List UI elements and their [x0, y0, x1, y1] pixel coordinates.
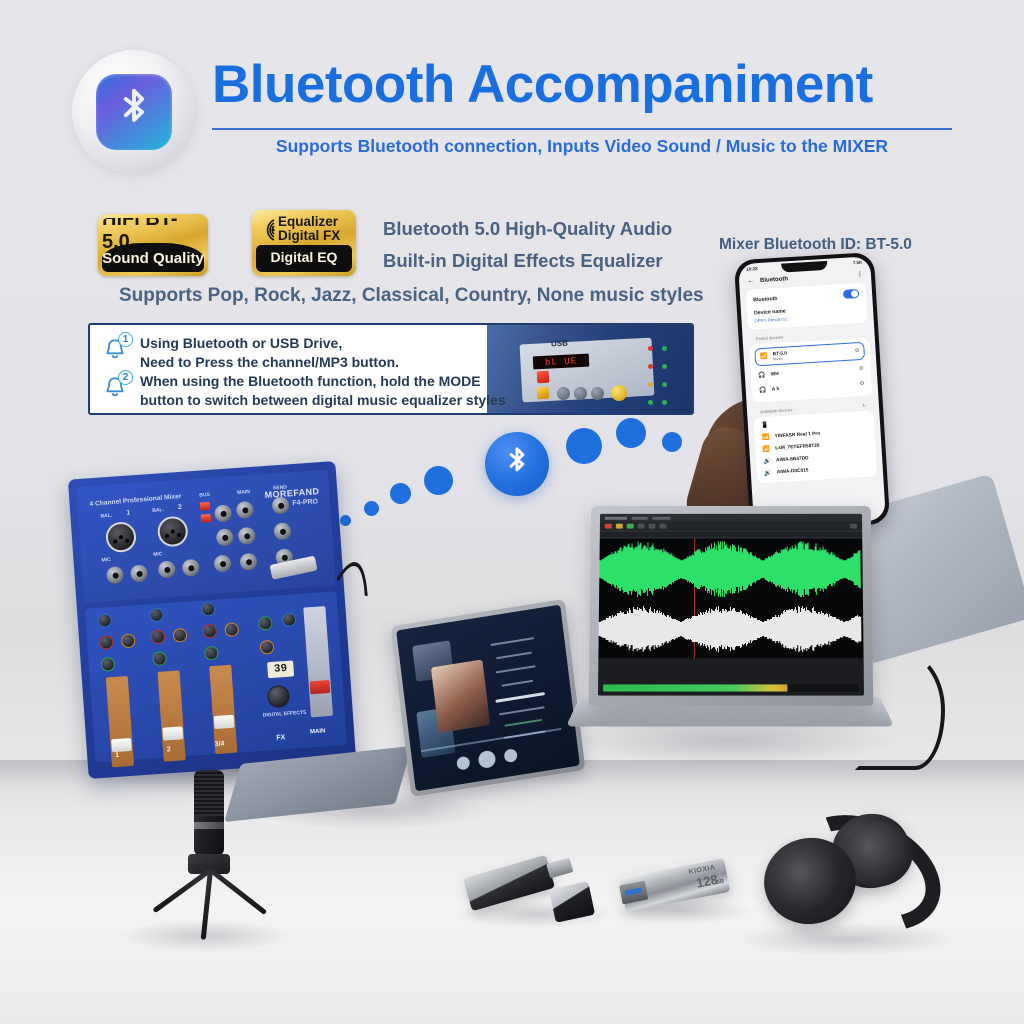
level-meter [603, 684, 859, 691]
signal-dot-3 [390, 483, 411, 504]
fx-knob-1[interactable] [258, 616, 273, 631]
speaker-icon: 🔊 [763, 458, 771, 465]
tripod-leg-3 [152, 868, 212, 913]
laptop-cable [855, 650, 945, 770]
hi-knob-1[interactable] [99, 635, 114, 650]
track-line-6[interactable] [499, 706, 545, 716]
label-bal-1: BAL. [100, 513, 112, 520]
send-jack[interactable] [272, 496, 290, 514]
mid-knob-1[interactable] [121, 633, 136, 648]
instruction-2-line2: button to switch between digital music e… [140, 391, 506, 410]
label-bus: BUS [199, 492, 210, 499]
signal-dot-4 [424, 466, 453, 495]
hi-knob-2[interactable] [151, 629, 166, 644]
daw-menubar[interactable] [600, 514, 862, 522]
channel-label-1: 1 [115, 752, 119, 759]
badge-equalizer: Equalizer Digital FX Digital EQ [252, 210, 356, 276]
gear-icon[interactable]: ⚙ [854, 348, 859, 354]
fader-track-1[interactable] [106, 676, 134, 767]
available-device-name: AIWA-D0C015 [777, 468, 809, 475]
inset-led-array [648, 341, 678, 413]
inset-next-button [591, 387, 605, 401]
inset-red-button [537, 371, 550, 384]
mixer-panel-inset-photo: USB bL UE [487, 325, 692, 413]
speaker-icon: 🔊 [764, 470, 772, 477]
instruction-text-2: When using the Bluetooth function, hold … [140, 370, 506, 409]
gear-icon[interactable]: ⚙ [859, 366, 864, 372]
paired-device-name: A 5 [772, 387, 780, 392]
track-line-4[interactable] [501, 680, 533, 687]
available-devices-list: 📱 📶 YINFASR Real 1 Pro 📶 LxM_7ETEFR58T26… [753, 410, 877, 483]
label-mic-2: MIC [153, 551, 163, 558]
instruction-box: USB bL UE 1 Us [88, 323, 694, 415]
rca-jack-left[interactable] [214, 504, 232, 522]
fader-cap-2[interactable] [162, 726, 183, 740]
badge-eq-line1: Equalizer [278, 215, 338, 229]
tablet-screen [396, 605, 580, 792]
badge-eq-bottom: Digital EQ [256, 245, 352, 272]
mid-knob-34[interactable] [224, 622, 239, 637]
bluetooth-settings-card: Bluetooth Device name OPPO Reno5 m1 [746, 283, 868, 330]
fader-track-2[interactable] [157, 670, 185, 761]
label-bal-2: BAL. [152, 507, 164, 514]
fx-program-knob[interactable] [267, 685, 290, 708]
inset-mp3-button [537, 387, 550, 400]
phone-caption: Mixer Bluetooth ID: BT-5.0 [719, 236, 912, 254]
feature-line-1: Bluetooth 5.0 High-Quality Audio [383, 218, 672, 240]
signal-dot-5 [566, 428, 602, 464]
play-button[interactable] [627, 524, 634, 529]
tablet-frame [391, 599, 586, 797]
bluetooth-icon: 📶 [762, 446, 770, 453]
paired-device-name: WH [771, 371, 779, 376]
fx-knob-3[interactable] [260, 640, 275, 655]
gain-knob-2[interactable] [149, 607, 164, 622]
waveform-track-1[interactable] [599, 538, 863, 600]
page-title: Bluetooth Accompaniment [212, 54, 873, 115]
gain-knob-34[interactable] [201, 602, 216, 617]
phone-screen: 10:28 7.5K ← Bluetooth ⋮ Bluetooth Devic… [738, 256, 886, 528]
paired-section-label: Paired devices [755, 334, 783, 341]
signal-dot-1 [340, 515, 351, 526]
xlr-input-1[interactable] [105, 521, 137, 553]
tool-chip-3[interactable] [659, 524, 666, 529]
status-indicators: 7.5K [853, 260, 863, 266]
timeline-ruler[interactable] [600, 532, 862, 539]
main-out-r[interactable] [238, 527, 256, 545]
tripod-leg-1 [209, 868, 267, 915]
mic-grille [194, 770, 224, 816]
laptop-device [580, 505, 880, 735]
refresh-icon[interactable]: ↻ [862, 402, 866, 407]
bluetooth-label: Bluetooth [753, 295, 778, 302]
bluetooth-glyph [114, 86, 154, 138]
instruction-number-2: 2 [118, 370, 133, 385]
instruction-text-1: Using Bluetooth or USB Drive, Need to Pr… [140, 332, 399, 371]
paired-device-status: Music [773, 356, 788, 361]
waveform-track-2[interactable] [598, 600, 863, 658]
badge-hifi-bottom: Sound Quality [102, 243, 204, 272]
paired-devices-list: 📶 BT-5.0 Music ⚙ 🎧 WH ⚙ 🎧 A 5 ⚙ [749, 337, 872, 402]
jack-3-4-r[interactable] [239, 553, 257, 571]
headphone-icon: 🎧 [759, 386, 767, 393]
tool-chip-4[interactable] [850, 524, 857, 529]
tripod-leg-2 [201, 870, 213, 940]
fx-jack[interactable] [273, 522, 291, 540]
product-infographic: Bluetooth Accompaniment Supports Bluetoo… [0, 0, 1024, 1024]
main-out-l[interactable] [236, 501, 254, 519]
available-device-name: AIWA-8B47DD [776, 456, 809, 463]
label-send: SEND [273, 484, 287, 491]
header: Bluetooth Accompaniment Supports Bluetoo… [72, 46, 952, 178]
available-device-name: YINFASR Real 1 Pro [775, 432, 821, 440]
mic-body [194, 770, 224, 856]
fx-knob-2[interactable] [282, 612, 297, 627]
overflow-menu-icon[interactable]: ⋮ [857, 271, 863, 278]
instruction-2-line1: When using the Bluetooth function, hold … [140, 372, 506, 391]
low-knob-1[interactable] [100, 657, 115, 672]
bus-button-1[interactable] [200, 502, 211, 511]
fader-cap-34[interactable] [214, 715, 235, 729]
ear-pad-left [768, 842, 850, 919]
mixer-input-panel: 4 Channel Professional Mixer MOREFAND F4… [76, 470, 335, 603]
bluetooth-icon [96, 74, 172, 150]
status-time: 10:28 [746, 266, 758, 272]
feature-line-3: Supports Pop, Rock, Jazz, Classical, Cou… [119, 285, 704, 307]
feature-line-2: Built-in Digital Effects Equalizer [383, 250, 663, 272]
laptop-lid [589, 506, 873, 706]
instruction-1-line1: Using Bluetooth or USB Drive, [140, 334, 399, 353]
record-button[interactable] [605, 524, 612, 529]
mid-knob-2[interactable] [173, 628, 188, 643]
headphones [740, 806, 960, 946]
bus-button-2[interactable] [201, 514, 212, 523]
label-ch-2: 2 [178, 504, 182, 511]
inset-usb-label: USB [551, 339, 568, 349]
signal-dot-6 [616, 418, 646, 448]
instruction-item-1: 1 Using Bluetooth or USB Drive, Need to … [102, 332, 399, 371]
badge-hifi-bt5: HiFi BT-5.0 Sound Quality [98, 214, 208, 276]
gain-knob-1[interactable] [97, 613, 112, 628]
insert-jack-1[interactable] [130, 564, 148, 582]
badge-hifi-top: HiFi BT-5.0 [102, 218, 204, 244]
label-mic-1: MIC [101, 557, 111, 564]
track-line-active[interactable] [495, 692, 545, 703]
tablet-device [391, 599, 586, 797]
waveform-bar [859, 550, 860, 588]
bluetooth-toggle[interactable] [843, 289, 860, 299]
bell-icon: 1 [102, 332, 132, 364]
daw-toolbar[interactable] [600, 522, 862, 532]
instruction-item-2: 2 When using the Bluetooth function, hol… [102, 370, 506, 409]
back-arrow-icon[interactable]: ← [747, 277, 754, 284]
line-in-jack-1[interactable] [106, 566, 124, 584]
bluetooth-toggle-row[interactable]: Bluetooth [753, 289, 859, 304]
title-divider [212, 128, 952, 130]
low-knob-34[interactable] [204, 646, 219, 661]
mic-ring [194, 822, 224, 829]
badge-eq-line2: Digital FX [278, 229, 340, 243]
hi-knob-34[interactable] [202, 624, 217, 639]
instruction-number-1: 1 [118, 332, 133, 347]
bluetooth-icon: 📶 [760, 353, 768, 360]
inset-mode-button [611, 385, 628, 402]
badge-eq-top: Equalizer Digital FX [256, 214, 352, 243]
low-knob-2[interactable] [152, 651, 167, 666]
phone-icon: 📱 [761, 422, 769, 429]
track-line-7[interactable] [504, 719, 542, 727]
previous-icon[interactable] [456, 756, 470, 771]
mixer-model: F4-PRO [292, 498, 318, 507]
headphone-icon: 🎧 [758, 371, 766, 378]
album-art-current[interactable] [431, 659, 490, 733]
tool-chip-2[interactable] [649, 524, 656, 529]
track-line-2[interactable] [496, 652, 532, 660]
available-device-name: LxM_7ETEFR58T26 [775, 444, 819, 452]
device-name-row[interactable]: Device name OPPO Reno5 m1 [754, 304, 861, 323]
rca-jack-right[interactable] [216, 528, 234, 546]
jack-3-4-l[interactable] [214, 555, 232, 573]
line-in-jack-2[interactable] [158, 560, 176, 578]
waveform-bar [860, 617, 861, 642]
bluetooth-icon [503, 445, 531, 483]
bluetooth-icon: 📶 [761, 434, 769, 441]
label-main: MAIN [237, 489, 250, 496]
gear-icon[interactable]: ⚙ [859, 381, 864, 387]
usb-capacity-unit: GB [715, 879, 725, 887]
smartphone: 10:28 7.5K ← Bluetooth ⋮ Bluetooth Devic… [734, 252, 890, 532]
fx-program-display: 39 [267, 660, 294, 678]
solo-button[interactable] [616, 524, 623, 529]
channel-label-34: 3/4 [214, 740, 224, 748]
page-subtitle: Supports Bluetooth connection, Inputs Vi… [212, 136, 952, 157]
level-meter-fill [603, 684, 787, 691]
label-ch-1: 1 [126, 509, 130, 516]
play-icon[interactable] [478, 750, 497, 770]
bell-icon: 2 [102, 370, 132, 402]
appbar-title: Bluetooth [760, 276, 788, 284]
available-section-label: Available devices [760, 407, 793, 414]
channel-label-2: 2 [167, 746, 171, 753]
mixer-caption: 4 Channel Professional Mixer [89, 493, 181, 508]
signal-dot-2 [364, 501, 379, 516]
track-line-3[interactable] [496, 665, 536, 674]
xlr-input-2[interactable] [157, 516, 189, 548]
bluetooth-logo-badge [72, 50, 196, 174]
fader-cap-1[interactable] [111, 738, 132, 752]
microphone [150, 770, 270, 950]
track-line-1[interactable] [490, 637, 534, 646]
insert-jack-2[interactable] [182, 559, 200, 577]
next-icon[interactable] [503, 748, 517, 763]
usb-connector [619, 881, 648, 905]
tool-chip-1[interactable] [638, 524, 645, 529]
instruction-1-line2: Need to Press the channel/MP3 button. [140, 353, 399, 372]
signal-dot-7 [662, 432, 682, 452]
device-name-value: OPPO Reno5 m1 [754, 316, 787, 323]
bluetooth-signal-badge [485, 432, 549, 496]
audio-editor-window [598, 514, 864, 696]
